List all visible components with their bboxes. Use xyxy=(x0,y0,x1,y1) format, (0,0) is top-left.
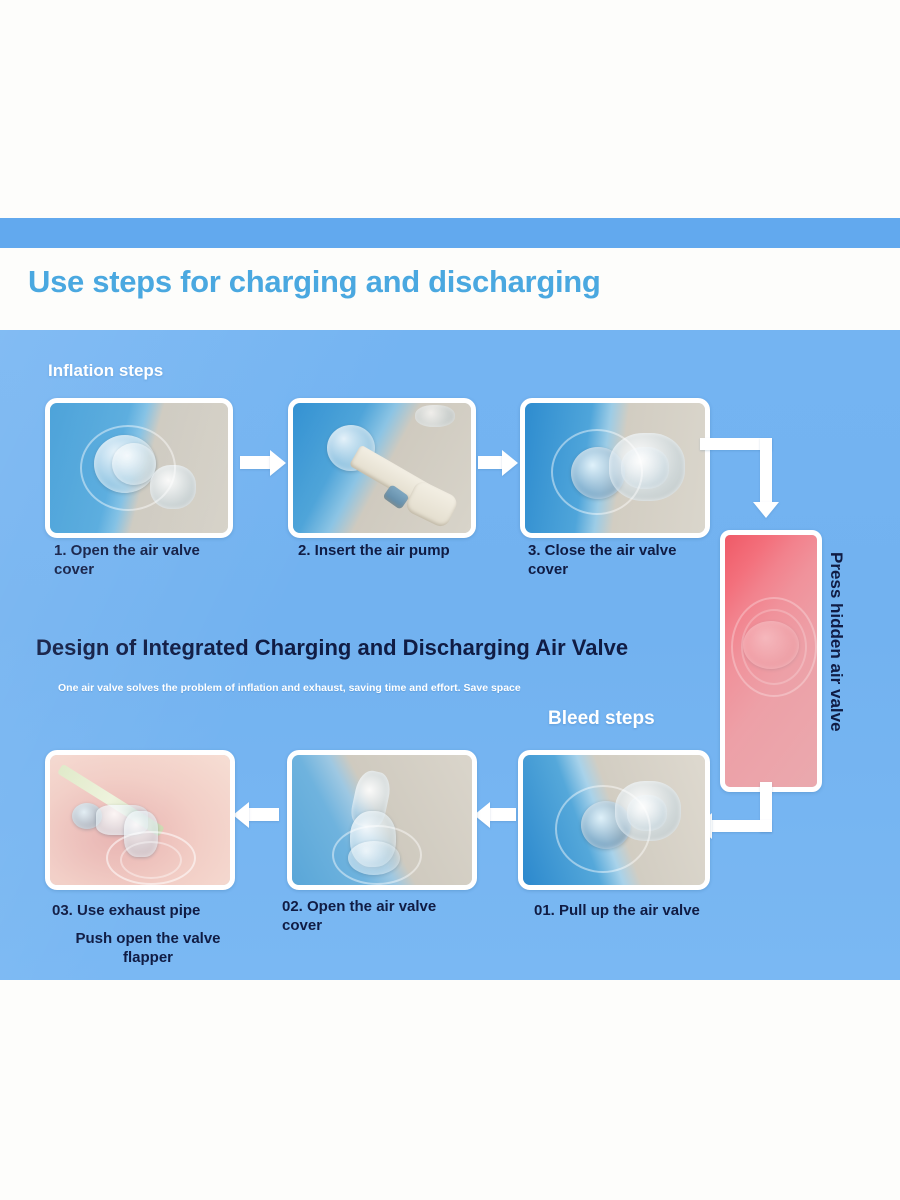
photo-hidden-air-valve xyxy=(720,530,822,792)
title-band: Use steps for charging and discharging xyxy=(0,248,900,330)
photo-bleed-step-02-image xyxy=(292,755,472,885)
label-press-hidden-air-valve: Press hidden air valve xyxy=(826,552,846,732)
photo-bleed-step-03 xyxy=(45,750,235,890)
caption-inflation-step-2: 2. Insert the air pump xyxy=(298,542,508,561)
infographic-canvas: Inflation steps 1. Open the air valve co… xyxy=(0,330,900,980)
caption-bleed-step-03: 03. Use exhaust pipe xyxy=(52,902,282,921)
photo-bleed-step-01 xyxy=(518,750,710,890)
photo-inflation-step-2-image xyxy=(293,403,471,533)
product-infographic-page: Use steps for charging and discharging I… xyxy=(0,0,900,1200)
bottom-white-area xyxy=(0,980,900,1200)
caption-bleed-step-03-secondary: Push open the valve flapper xyxy=(48,930,248,968)
section-label-inflation: Inflation steps xyxy=(48,361,163,381)
photo-bleed-step-02 xyxy=(287,750,477,890)
design-section-title: Design of Integrated Charging and Discha… xyxy=(36,635,628,661)
caption-bleed-step-01: 01. Pull up the air valve xyxy=(534,902,764,921)
photo-inflation-step-1 xyxy=(45,398,233,538)
top-accent-strip xyxy=(0,218,900,248)
photo-bleed-step-01-image xyxy=(523,755,705,885)
photo-hidden-air-valve-image xyxy=(725,535,817,787)
photo-inflation-step-3 xyxy=(520,398,710,538)
photo-bleed-step-03-image xyxy=(50,755,230,885)
caption-inflation-step-1: 1. Open the air valve cover xyxy=(54,542,254,580)
photo-inflation-step-2 xyxy=(288,398,476,538)
page-title: Use steps for charging and discharging xyxy=(28,264,601,300)
caption-inflation-step-3: 3. Close the air valve cover xyxy=(528,542,738,580)
design-section-subtitle: One air valve solves the problem of infl… xyxy=(58,682,521,694)
section-label-bleed: Bleed steps xyxy=(548,708,655,730)
photo-inflation-step-3-image xyxy=(525,403,705,533)
caption-bleed-step-02: 02. Open the air valve cover xyxy=(282,898,492,936)
photo-inflation-step-1-image xyxy=(50,403,228,533)
